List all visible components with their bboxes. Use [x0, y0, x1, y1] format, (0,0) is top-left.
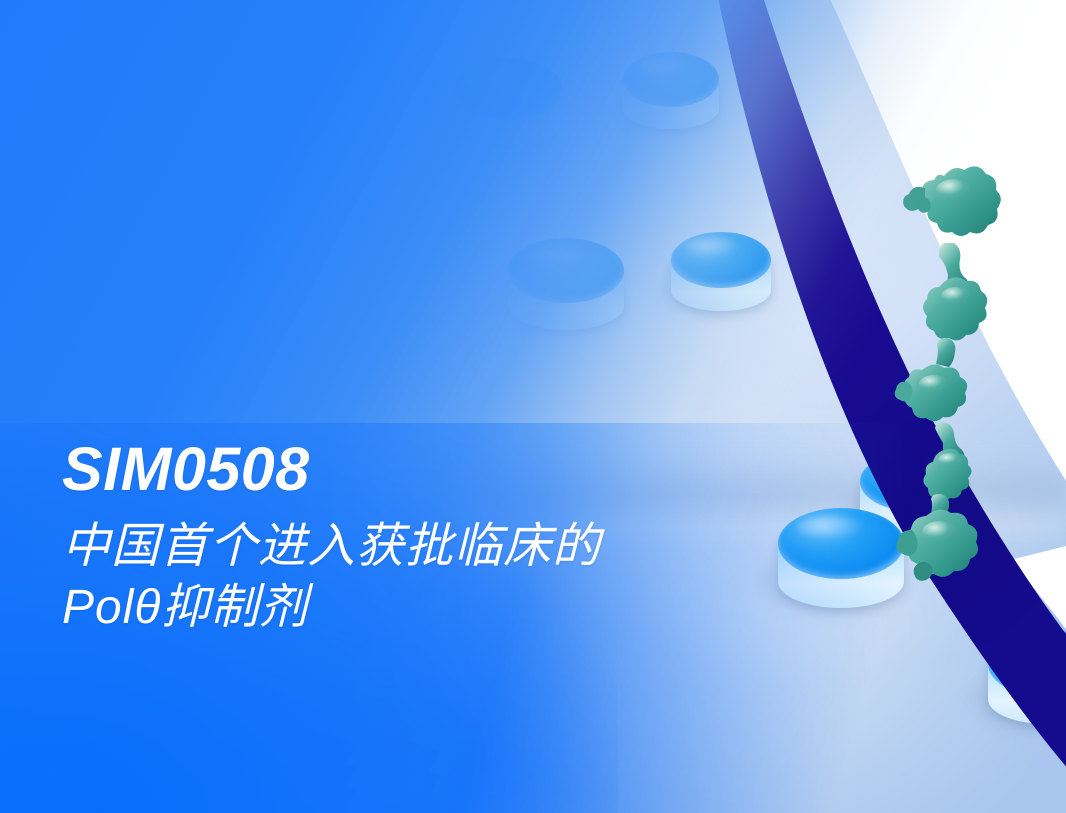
poster-canvas: SIM0508 中国首个进入获批临床的 Polθ抑制剂: [0, 0, 1066, 813]
subtitle-block: 中国首个进入获批临床的 Polθ抑制剂: [62, 517, 822, 638]
product-code-title: SIM0508: [62, 437, 822, 501]
headline-block: SIM0508 中国首个进入获批临床的 Polθ抑制剂: [62, 437, 822, 638]
subtitle-line-1: 中国首个进入获批临床的: [62, 517, 822, 577]
subtitle-line-2: Polθ抑制剂: [62, 578, 822, 638]
